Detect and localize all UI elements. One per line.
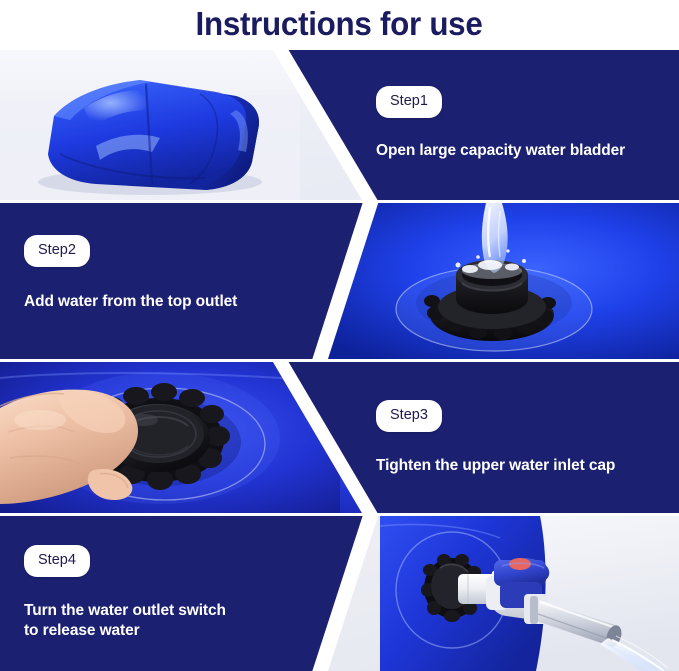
step-2-badge: Step2 bbox=[24, 235, 90, 267]
step-3-content: Step3 Tighten the upper water inlet cap bbox=[376, 362, 666, 513]
step-4-caption: Turn the water outlet switch to release … bbox=[24, 601, 324, 643]
page-title: Instructions for use bbox=[196, 7, 483, 40]
title-bar: Instructions for use bbox=[0, 0, 679, 46]
step-3-caption: Tighten the upper water inlet cap bbox=[376, 456, 666, 477]
step-row-4: Step4 Turn the water outlet switch to re… bbox=[0, 516, 679, 671]
step-4-badge: Step4 bbox=[24, 545, 90, 577]
step-4-caption-line-2: to release water bbox=[24, 621, 324, 642]
step-2-caption: Add water from the top outlet bbox=[24, 292, 324, 313]
step-3-badge: Step3 bbox=[376, 400, 442, 432]
step-row-3: Step3 Tighten the upper water inlet cap bbox=[0, 362, 679, 513]
step-1-content: Step1 Open large capacity water bladder bbox=[376, 50, 666, 200]
step-1-badge: Step1 bbox=[376, 86, 442, 118]
step-2-content: Step2 Add water from the top outlet bbox=[24, 203, 324, 359]
step-4-caption-line-1: Turn the water outlet switch bbox=[24, 601, 324, 622]
step-row-2: Step2 Add water from the top outlet bbox=[0, 203, 679, 359]
step-1-caption: Open large capacity water bladder bbox=[376, 141, 666, 162]
instructions-infographic: Instructions for use bbox=[0, 0, 679, 671]
step-row-1: Step1 Open large capacity water bladder bbox=[0, 50, 679, 200]
step-4-content: Step4 Turn the water outlet switch to re… bbox=[24, 516, 324, 671]
